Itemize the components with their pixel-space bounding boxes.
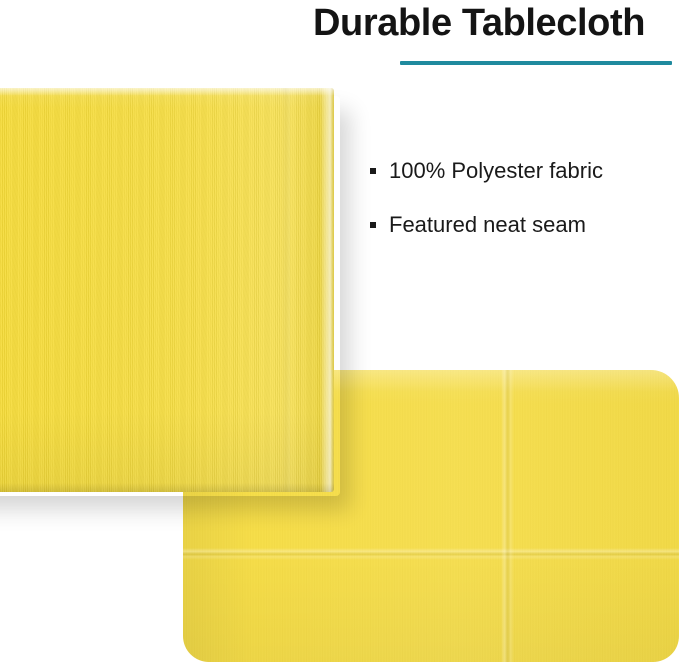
feature-label: Featured neat seam	[389, 212, 586, 238]
horizontal-hem-seam	[183, 548, 679, 560]
square-bullet-icon	[370, 168, 376, 174]
feature-list: 100% Polyester fabric Featured neat seam	[370, 158, 679, 266]
product-text-panel: Durable Tablecloth 100% Polyester fabric…	[305, 0, 679, 270]
page-title: Durable Tablecloth	[313, 1, 679, 45]
vertical-hem-seam	[501, 370, 514, 662]
list-item: Featured neat seam	[370, 212, 679, 238]
fold-bottom-shade	[0, 483, 334, 492]
square-bullet-icon	[370, 222, 376, 228]
feature-label: 100% Polyester fabric	[389, 158, 603, 184]
title-divider	[400, 61, 672, 65]
list-item: 100% Polyester fabric	[370, 158, 679, 184]
product-image-stage: Durable Tablecloth 100% Polyester fabric…	[0, 0, 679, 662]
folded-tablecloth-stack-image	[0, 88, 334, 492]
fold-crease	[280, 88, 290, 492]
